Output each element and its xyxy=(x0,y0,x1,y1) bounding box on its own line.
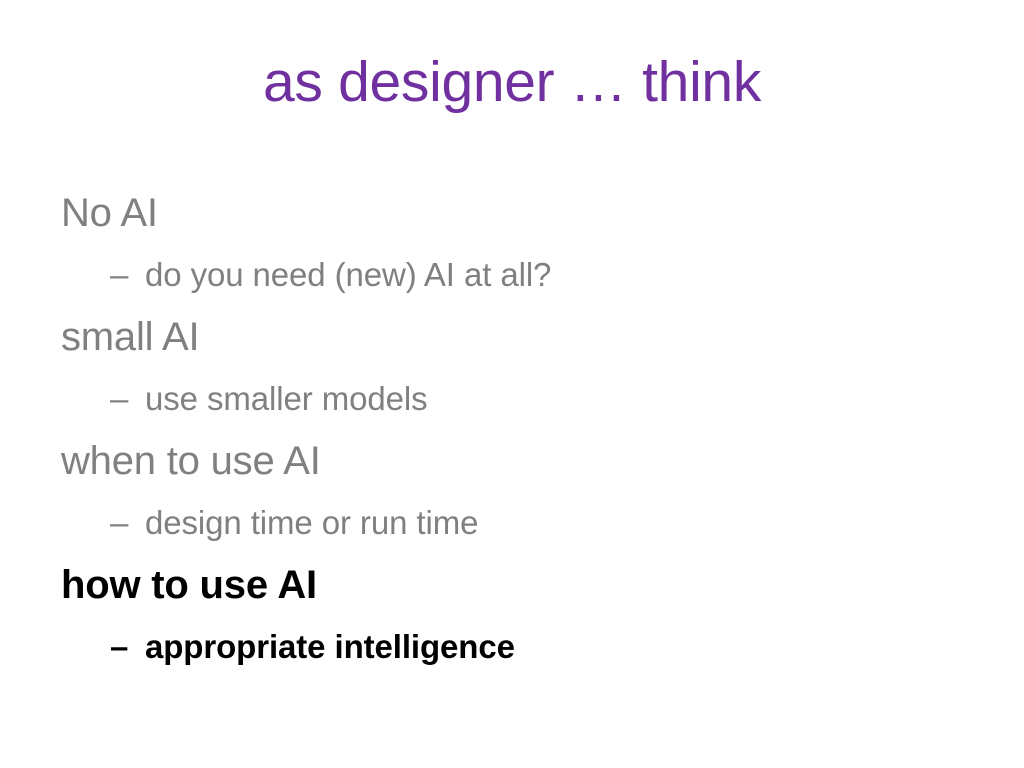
slide-body-outline: No AI –do you need (new) AI at all? smal… xyxy=(61,182,961,678)
bullet-level2-no-ai-label: do you need (new) AI at all? xyxy=(145,256,551,293)
slide-title: as designer … think xyxy=(0,52,1024,114)
bullet-level1-no-ai: No AI xyxy=(61,182,961,244)
bullet-level2-how-to-use-ai: –appropriate intelligence xyxy=(61,616,961,678)
en-dash-marker-icon: – xyxy=(110,492,145,554)
outline-group-no-ai: No AI –do you need (new) AI at all? xyxy=(61,182,961,306)
bullet-level2-when-to-use-ai: –design time or run time xyxy=(61,492,961,554)
bullet-level1-how-to-use-ai: how to use AI xyxy=(61,554,961,616)
bullet-level2-small-ai: –use smaller models xyxy=(61,368,961,430)
bullet-level2-small-ai-label: use smaller models xyxy=(145,380,427,417)
en-dash-marker-icon: – xyxy=(110,244,145,306)
bullet-level2-how-to-use-ai-label: appropriate intelligence xyxy=(145,628,515,665)
bullet-level1-small-ai: small AI xyxy=(61,306,961,368)
outline-group-how-to-use-ai: how to use AI –appropriate intelligence xyxy=(61,554,961,678)
outline-group-small-ai: small AI –use smaller models xyxy=(61,306,961,430)
bullet-level1-when-to-use-ai: when to use AI xyxy=(61,430,961,492)
bullet-level2-when-to-use-ai-label: design time or run time xyxy=(145,504,478,541)
en-dash-marker-icon: – xyxy=(110,616,145,678)
outline-group-when-to-use-ai: when to use AI –design time or run time xyxy=(61,430,961,554)
en-dash-marker-icon: – xyxy=(110,368,145,430)
presentation-slide: as designer … think No AI –do you need (… xyxy=(0,0,1024,768)
bullet-level2-no-ai: –do you need (new) AI at all? xyxy=(61,244,961,306)
